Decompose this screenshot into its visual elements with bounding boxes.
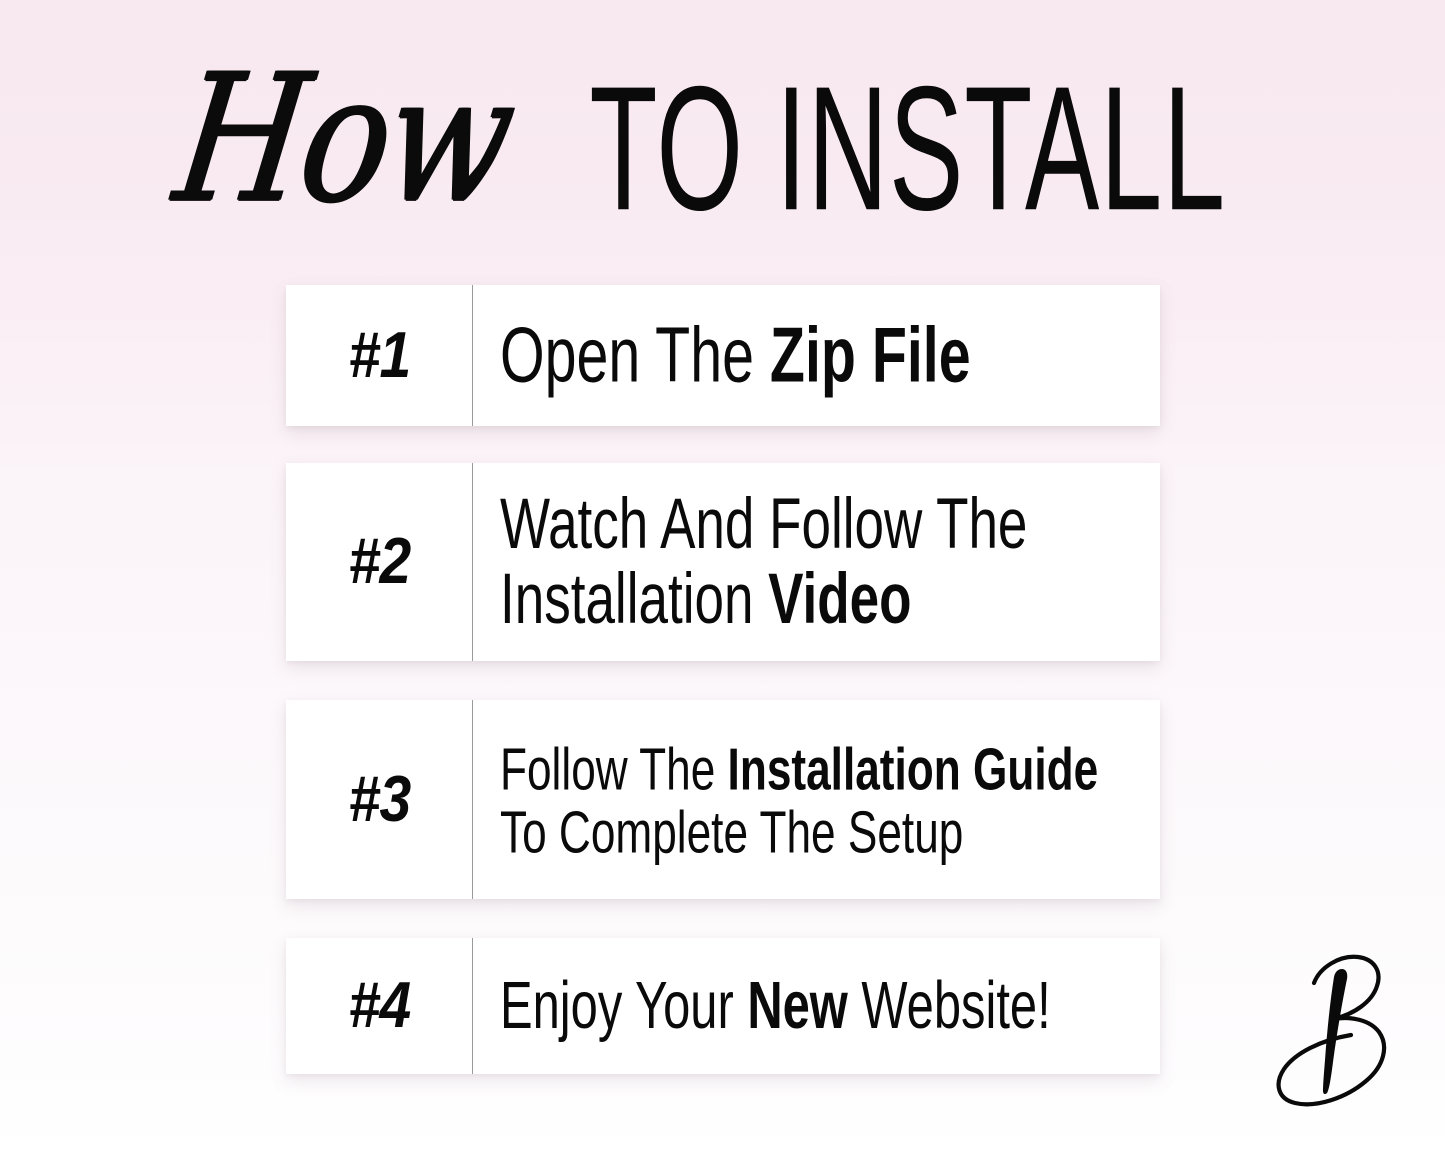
step-number: #3 <box>348 767 410 832</box>
step-text-line: Watch And Follow The <box>500 489 1097 561</box>
step-text-line: Installation Video <box>500 564 1097 636</box>
step-text-line: To Complete The Setup <box>500 801 1103 861</box>
step-card: #2 Watch And Follow The Installation Vid… <box>286 463 1160 661</box>
step-card: #4 Enjoy Your New Website! <box>286 938 1160 1074</box>
step-number: #2 <box>348 529 410 594</box>
step-text-column: Follow The Installation Guide To Complet… <box>473 700 1160 899</box>
step-text-column: Enjoy Your New Website! <box>473 938 1160 1074</box>
step-number: #1 <box>348 323 410 388</box>
step-text-column: Open The Zip File <box>473 285 1160 426</box>
step-number-column: #1 <box>286 285 473 426</box>
page-title: How TO INSTALL <box>0 52 1445 242</box>
step-text-line: Open The Zip File <box>500 316 1103 394</box>
brand-logo-b-icon <box>1258 936 1418 1121</box>
step-card: #3 Follow The Installation Guide To Comp… <box>286 700 1160 899</box>
step-text-line: Follow The Installation Guide <box>500 738 1103 798</box>
step-text-column: Watch And Follow The Installation Video <box>473 463 1160 661</box>
step-number-column: #4 <box>286 938 473 1074</box>
poster-canvas: How TO INSTALL #1 Open The Zip File #2 W… <box>0 0 1445 1156</box>
title-caps-words: TO INSTALL <box>589 61 1226 238</box>
step-card: #1 Open The Zip File <box>286 285 1160 426</box>
step-number: #4 <box>348 973 410 1038</box>
step-number-column: #2 <box>286 463 473 661</box>
step-text-line: Enjoy Your New Website! <box>500 973 1103 1040</box>
title-script-word: How <box>168 51 523 228</box>
step-number-column: #3 <box>286 700 473 899</box>
